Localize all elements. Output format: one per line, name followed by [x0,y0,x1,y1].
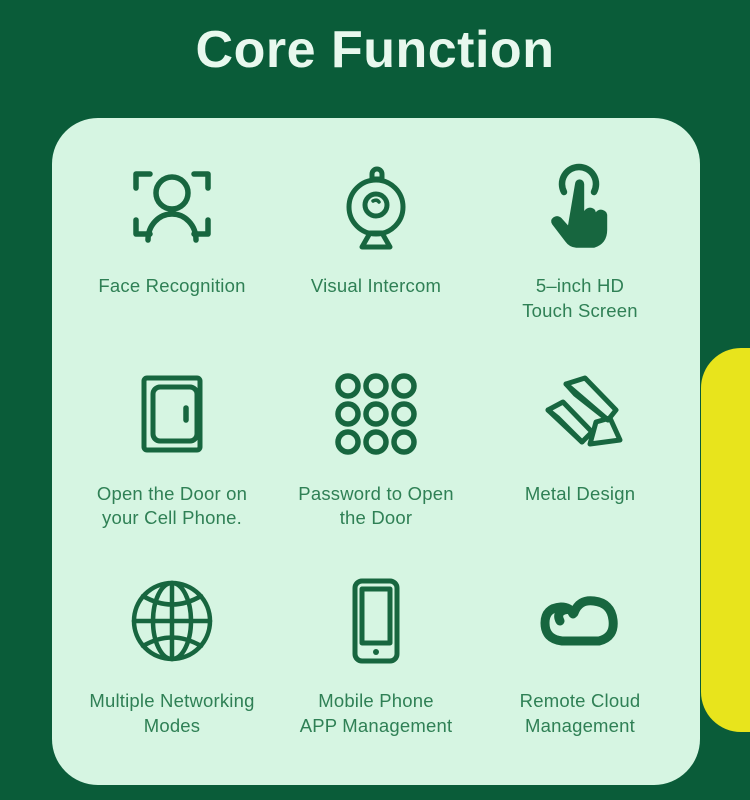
globe-icon [124,567,220,675]
feature-label: Metal Design [525,482,635,507]
feature-item-app-management[interactable]: Mobile Phone APP Management [274,567,478,775]
feature-label: 5–inch HD Touch Screen [522,274,638,323]
feature-item-password-open-door[interactable]: Password to Open the Door [274,360,478,568]
touch-hand-icon [532,152,628,260]
keypad-grid-icon [328,360,424,468]
yellow-accent-shape [701,348,750,732]
mobile-phone-icon [328,567,424,675]
feature-item-metal-design[interactable]: Metal Design [478,360,682,568]
feature-item-visual-intercom[interactable]: Visual Intercom [274,152,478,360]
feature-label: Mobile Phone APP Management [300,689,453,738]
feature-item-open-door-phone[interactable]: Open the Door on your Cell Phone. [70,360,274,568]
feature-item-networking-modes[interactable]: Multiple Networking Modes [70,567,274,775]
feature-item-touch-screen[interactable]: 5–inch HD Touch Screen [478,152,682,360]
feature-grid: Face Recognition Visual Intercom [70,152,682,775]
door-icon [124,360,220,468]
metal-bars-icon [530,360,630,468]
core-function-card: Face Recognition Visual Intercom [52,118,700,785]
feature-label: Remote Cloud Management [520,689,641,738]
feature-label: Multiple Networking Modes [89,689,254,738]
face-recognition-icon [124,152,220,260]
feature-label: Face Recognition [98,274,245,299]
feature-label: Password to Open the Door [298,482,453,531]
feature-label: Open the Door on your Cell Phone. [97,482,247,531]
webcam-intercom-icon [328,152,424,260]
page-title: Core Function [0,22,750,79]
cloud-icon [530,567,630,675]
feature-item-face-recognition[interactable]: Face Recognition [70,152,274,360]
feature-label: Visual Intercom [311,274,441,299]
feature-item-cloud-management[interactable]: Remote Cloud Management [478,567,682,775]
